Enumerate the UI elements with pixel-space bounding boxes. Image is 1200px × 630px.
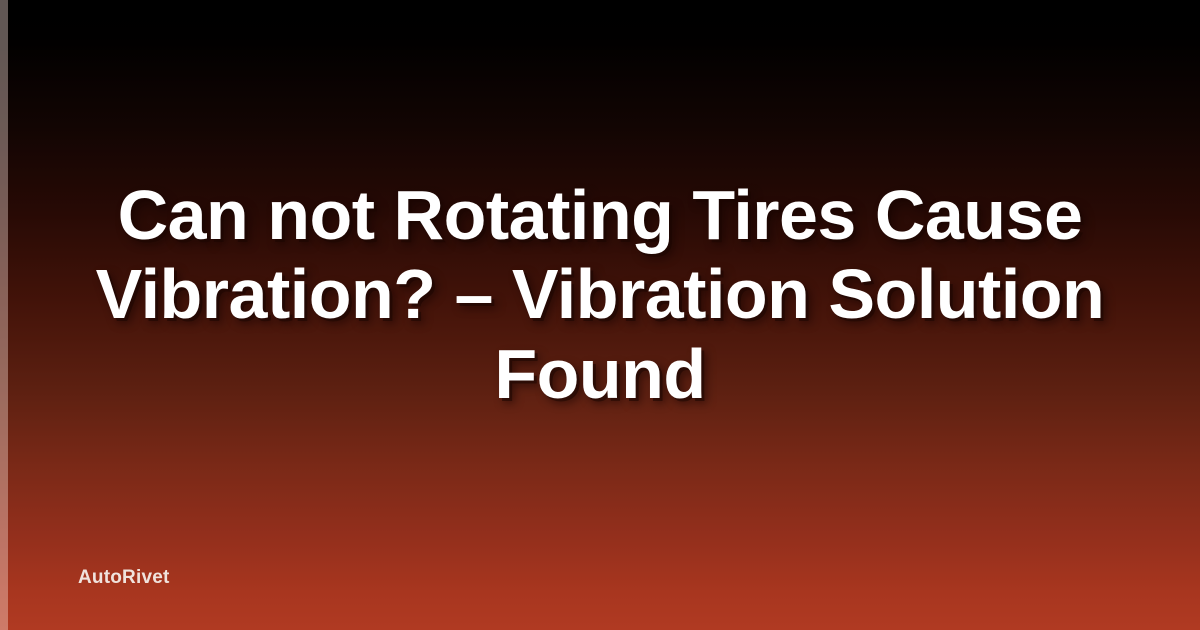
page-title: Can not Rotating Tires Cause Vibration? … [60, 176, 1140, 413]
social-share-card: Can not Rotating Tires Cause Vibration? … [0, 0, 1200, 630]
title-container: Can not Rotating Tires Cause Vibration? … [0, 0, 1200, 630]
brand-logo[interactable]: AutoRivet [78, 568, 170, 587]
